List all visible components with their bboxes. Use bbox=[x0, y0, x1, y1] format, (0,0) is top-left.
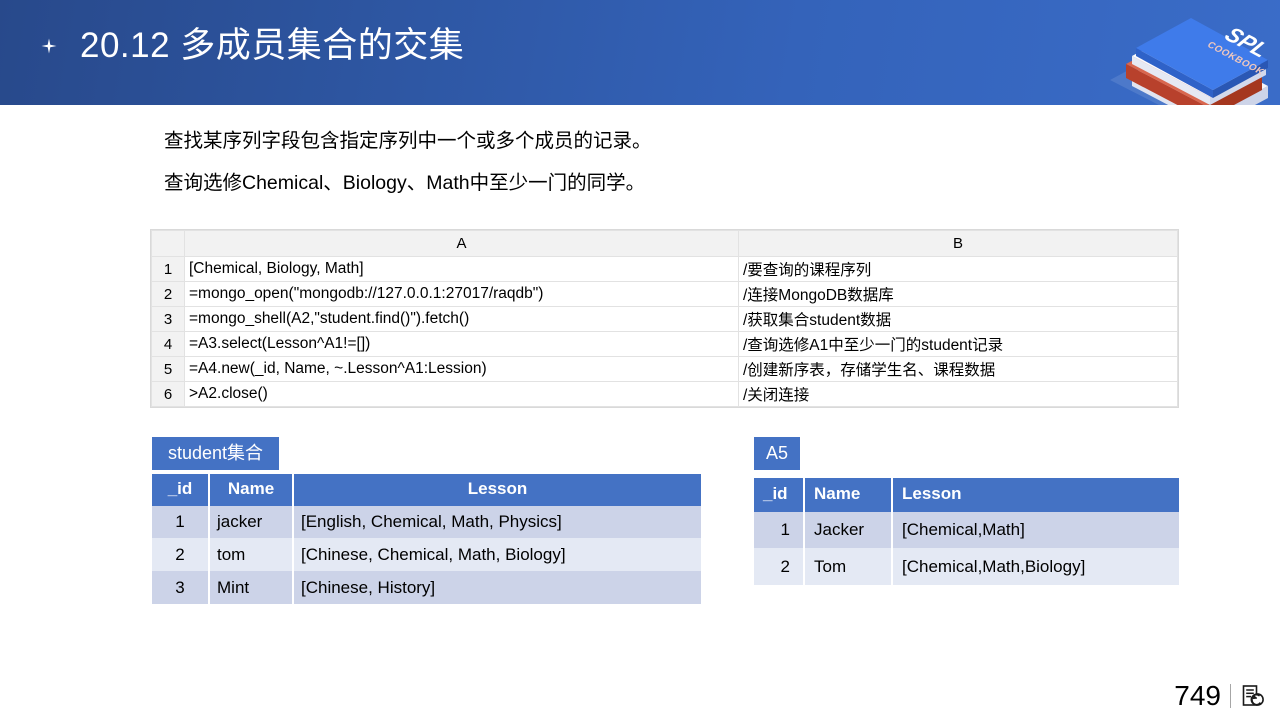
result-table-header-row: _id Name Lesson bbox=[754, 478, 1179, 511]
grid-column-header-b[interactable]: B bbox=[739, 231, 1178, 257]
result-table: _id Name Lesson 1 Jacker [Chemical,Math]… bbox=[754, 478, 1179, 585]
slide-canvas: 20.12 多成员集合的交集 bbox=[0, 0, 1280, 720]
result-column-header-id: _id bbox=[754, 478, 804, 511]
spl-code-grid[interactable]: A B 1 [Chemical, Biology, Math] /要查询的课程序… bbox=[150, 229, 1179, 408]
grid-column-header-a[interactable]: A bbox=[185, 231, 739, 257]
table-row: 2 =mongo_open("mongodb://127.0.0.1:27017… bbox=[152, 282, 1178, 307]
student-cell-name: Mint bbox=[209, 571, 293, 604]
result-cell-name: Jacker bbox=[804, 511, 892, 548]
grid-row-header-5[interactable]: 5 bbox=[152, 357, 185, 382]
description-line-2: 查询选修Chemical、Biology、Math中至少一门的同学。 bbox=[164, 170, 645, 196]
result-cell-id: 2 bbox=[754, 548, 804, 585]
table-row: 3 Mint [Chinese, History] bbox=[152, 571, 701, 604]
page-title: 20.12 多成员集合的交集 bbox=[80, 23, 464, 69]
student-table-header-row: _id Name Lesson bbox=[152, 474, 701, 505]
student-table-label: student集合 bbox=[152, 437, 279, 470]
grid-row-header-3[interactable]: 3 bbox=[152, 307, 185, 332]
student-cell-lesson: [Chinese, History] bbox=[293, 571, 701, 604]
student-cell-name: jacker bbox=[209, 505, 293, 538]
grid-cell-a2[interactable]: =mongo_open("mongodb://127.0.0.1:27017/r… bbox=[185, 282, 739, 307]
result-cell-id: 1 bbox=[754, 511, 804, 548]
grid-cell-a4[interactable]: =A3.select(Lesson^A1!=[]) bbox=[185, 332, 739, 357]
student-cell-lesson: [Chinese, Chemical, Math, Biology] bbox=[293, 538, 701, 571]
grid-cell-b6[interactable]: /关闭连接 bbox=[739, 382, 1178, 407]
grid-row-header-4[interactable]: 4 bbox=[152, 332, 185, 357]
title-row: 20.12 多成员集合的交集 bbox=[40, 23, 464, 69]
table-row: 1 jacker [English, Chemical, Math, Physi… bbox=[152, 505, 701, 538]
table-row: 1 Jacker [Chemical,Math] bbox=[754, 511, 1179, 548]
student-column-header-lesson: Lesson bbox=[293, 474, 701, 505]
student-cell-id: 3 bbox=[152, 571, 209, 604]
table-row: 6 >A2.close() /关闭连接 bbox=[152, 382, 1178, 407]
result-cell-lesson: [Chemical,Math,Biology] bbox=[892, 548, 1179, 585]
student-cell-lesson: [English, Chemical, Math, Physics] bbox=[293, 505, 701, 538]
student-column-header-name: Name bbox=[209, 474, 293, 505]
result-column-header-name: Name bbox=[804, 478, 892, 511]
student-column-header-id: _id bbox=[152, 474, 209, 505]
grid-corner-cell bbox=[152, 231, 185, 257]
table-row: 2 Tom [Chemical,Math,Biology] bbox=[754, 548, 1179, 585]
table-row: 5 =A4.new(_id, Name, ~.Lesson^A1:Lession… bbox=[152, 357, 1178, 382]
grid-cell-b5[interactable]: /创建新序表，存储学生名、课程数据 bbox=[739, 357, 1178, 382]
slide-header: 20.12 多成员集合的交集 bbox=[0, 0, 1280, 105]
grid-cell-b1[interactable]: /要查询的课程序列 bbox=[739, 257, 1178, 282]
document-history-icon[interactable] bbox=[1240, 683, 1266, 709]
table-row: 2 tom [Chinese, Chemical, Math, Biology] bbox=[152, 538, 701, 571]
grid-cell-a6[interactable]: >A2.close() bbox=[185, 382, 739, 407]
grid-cell-a3[interactable]: =mongo_shell(A2,"student.find()").fetch(… bbox=[185, 307, 739, 332]
description-line-1: 查找某序列字段包含指定序列中一个或多个成员的记录。 bbox=[164, 128, 652, 154]
grid-row-header-2[interactable]: 2 bbox=[152, 282, 185, 307]
table-row: 3 =mongo_shell(A2,"student.find()").fetc… bbox=[152, 307, 1178, 332]
sparkle-icon bbox=[40, 37, 58, 55]
result-column-header-lesson: Lesson bbox=[892, 478, 1179, 511]
grid-cell-a5[interactable]: =A4.new(_id, Name, ~.Lesson^A1:Lession) bbox=[185, 357, 739, 382]
spl-cookbook-book-icon: SPL COOKBOOK bbox=[1092, 2, 1272, 105]
grid-row-header-6[interactable]: 6 bbox=[152, 382, 185, 407]
result-table-label: A5 bbox=[754, 437, 800, 470]
page-number: 749 bbox=[1174, 680, 1221, 712]
result-cell-name: Tom bbox=[804, 548, 892, 585]
table-row: 4 =A3.select(Lesson^A1!=[]) /查询选修A1中至少一门… bbox=[152, 332, 1178, 357]
grid-cell-b4[interactable]: /查询选修A1中至少一门的student记录 bbox=[739, 332, 1178, 357]
student-cell-id: 1 bbox=[152, 505, 209, 538]
student-cell-name: tom bbox=[209, 538, 293, 571]
grid-cell-b2[interactable]: /连接MongoDB数据库 bbox=[739, 282, 1178, 307]
grid-cell-a1[interactable]: [Chemical, Biology, Math] bbox=[185, 257, 739, 282]
footer-divider bbox=[1230, 684, 1231, 708]
student-cell-id: 2 bbox=[152, 538, 209, 571]
grid-cell-b3[interactable]: /获取集合student数据 bbox=[739, 307, 1178, 332]
result-cell-lesson: [Chemical,Math] bbox=[892, 511, 1179, 548]
student-collection-table: _id Name Lesson 1 jacker [English, Chemi… bbox=[152, 474, 701, 604]
slide-footer: 749 bbox=[1174, 680, 1266, 712]
table-row: 1 [Chemical, Biology, Math] /要查询的课程序列 bbox=[152, 257, 1178, 282]
grid-column-header-row: A B bbox=[152, 231, 1178, 257]
grid-row-header-1[interactable]: 1 bbox=[152, 257, 185, 282]
